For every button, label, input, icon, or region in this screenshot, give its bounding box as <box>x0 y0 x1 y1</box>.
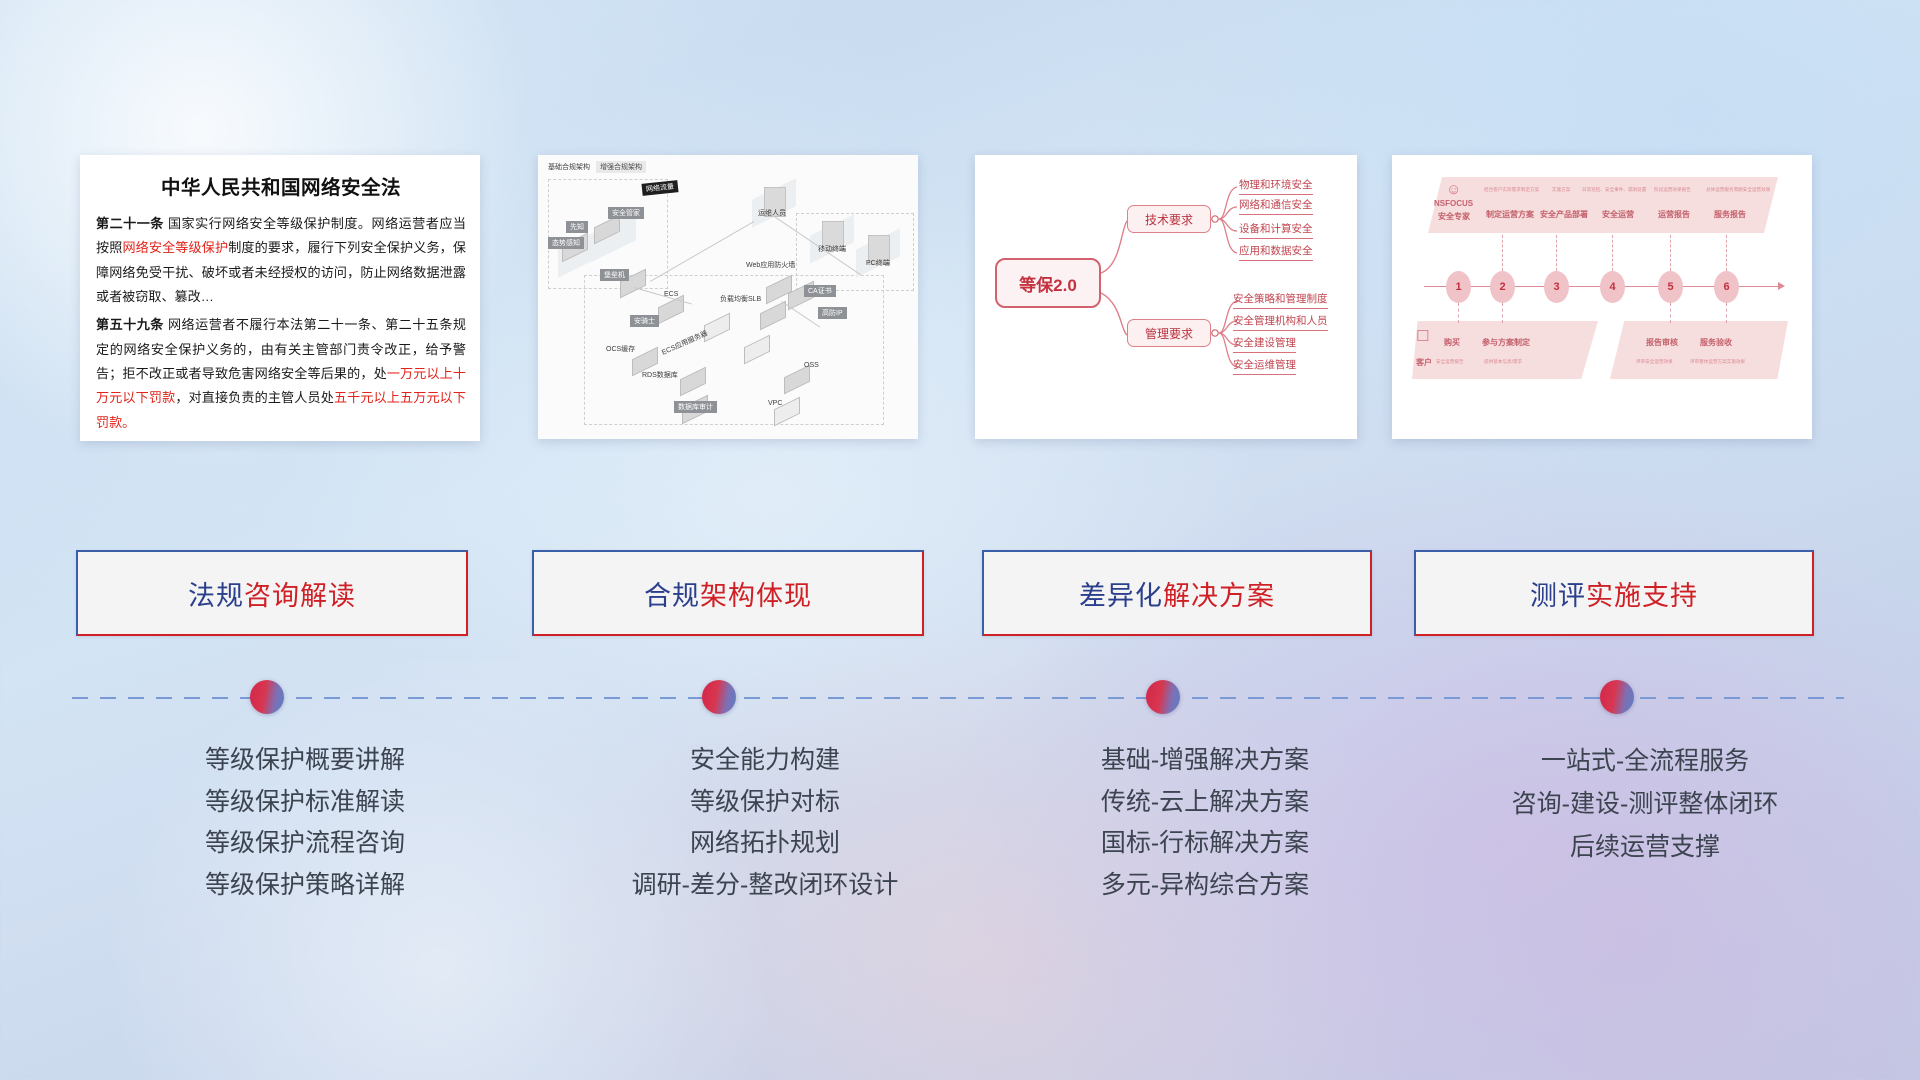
timeline-dot-3[interactable] <box>1146 680 1180 714</box>
detail-column-3: 基础-增强解决方案 传统-云上解决方案 国标-行标解决方案 多元-异构综合方案 <box>955 740 1455 906</box>
list-item: 后续运营支撑 <box>1420 826 1870 869</box>
header-label-4-red: 实施支持 <box>1586 581 1698 611</box>
header-box-differentiated-solution[interactable]: 差异化解决方案 <box>982 550 1372 636</box>
list-item: 调研-差分-整改闭环设计 <box>520 865 1010 907</box>
timeline-dashed-line <box>72 697 1844 699</box>
header-label-1-red: 咨询解读 <box>244 581 356 611</box>
detail-column-2: 安全能力构建 等级保护对标 网络拓扑规划 调研-差分-整改闭环设计 <box>520 740 1010 906</box>
detail-column-4: 一站式-全流程服务 咨询-建设-测评整体闭环 后续运营支撑 <box>1420 740 1870 869</box>
header-label-2-blue: 合规 <box>644 581 700 611</box>
header-label-3-blue: 差异化 <box>1079 581 1163 611</box>
list-item: 等级保护流程咨询 <box>60 823 550 865</box>
header-label-2: 合规架构体现 <box>644 574 812 613</box>
detail-column-1: 等级保护概要讲解 等级保护标准解读 等级保护流程咨询 等级保护策略详解 <box>60 740 550 906</box>
header-box-compliance-architecture[interactable]: 合规架构体现 <box>532 550 924 636</box>
list-item: 一站式-全流程服务 <box>1420 740 1870 783</box>
list-item: 咨询-建设-测评整体闭环 <box>1420 783 1870 826</box>
header-box-regulation-consulting[interactable]: 法规咨询解读 <box>76 550 468 636</box>
list-item: 基础-增强解决方案 <box>955 740 1455 782</box>
list-item: 网络拓扑规划 <box>520 823 1010 865</box>
list-item: 等级保护对标 <box>520 782 1010 824</box>
header-label-4: 测评实施支持 <box>1530 574 1698 613</box>
list-item: 安全能力构建 <box>520 740 1010 782</box>
header-label-3-red: 解决方案 <box>1163 581 1275 611</box>
header-label-4-blue: 测评 <box>1530 581 1586 611</box>
header-label-1-blue: 法规 <box>188 581 244 611</box>
detail-columns-row: 等级保护概要讲解 等级保护标准解读 等级保护流程咨询 等级保护策略详解 安全能力… <box>0 740 1920 1000</box>
timeline-dot-1[interactable] <box>250 680 284 714</box>
header-box-assessment-support[interactable]: 测评实施支持 <box>1414 550 1814 636</box>
list-item: 传统-云上解决方案 <box>955 782 1455 824</box>
list-item: 等级保护策略详解 <box>60 865 550 907</box>
list-item: 多元-异构综合方案 <box>955 865 1455 907</box>
list-item: 等级保护标准解读 <box>60 782 550 824</box>
timeline-dot-4[interactable] <box>1600 680 1634 714</box>
header-label-1: 法规咨询解读 <box>188 574 356 613</box>
list-item: 国标-行标解决方案 <box>955 823 1455 865</box>
slide-stage: 中华人民共和国网络安全法 第二十一条 国家实行网络安全等级保护制度。网络运营者应… <box>0 0 1920 1080</box>
timeline-dot-2[interactable] <box>702 680 736 714</box>
header-label-2-red: 架构体现 <box>700 581 812 611</box>
header-label-3: 差异化解决方案 <box>1079 574 1275 613</box>
list-item: 等级保护概要讲解 <box>60 740 550 782</box>
